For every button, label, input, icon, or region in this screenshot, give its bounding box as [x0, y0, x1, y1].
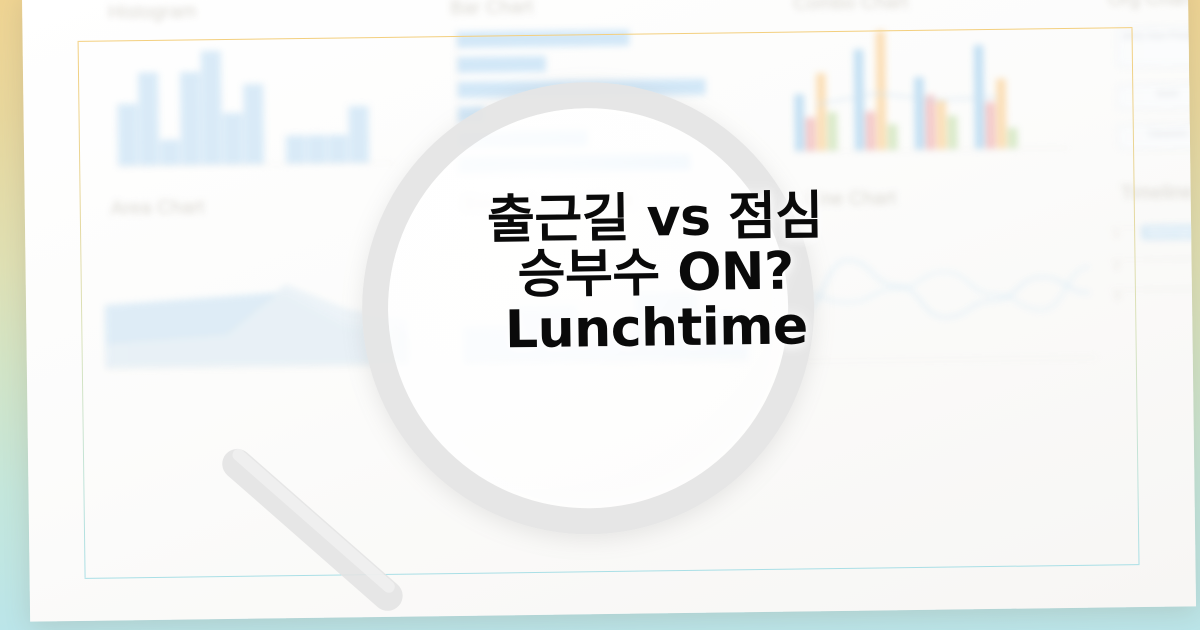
headline-line-3: Lunchtime	[426, 299, 887, 360]
panel-title-org-chart: Org Chart	[1108, 0, 1193, 11]
timeline-bar-label: Washington	[1147, 226, 1196, 238]
org-node-1-label: Kent	[1157, 89, 1178, 100]
headline-block: 출근길 vs 점심 승부수 ON? Lunchtime	[425, 188, 887, 359]
headline-line-1: 출근길 vs 점심	[425, 188, 886, 249]
white-card: Histogram Bar Chart Combo Ch	[22, 0, 1196, 622]
timeline-bar: Washington	[1141, 224, 1196, 240]
card-inner: Histogram Bar Chart Combo Ch	[22, 0, 1196, 622]
org-node-0-label: Jerry Vice President	[1122, 30, 1196, 42]
poster-canvas: Histogram Bar Chart Combo Ch	[0, 0, 1200, 630]
org-node-2-label: Cleaners	[1148, 128, 1188, 140]
headline-line-2: 승부수 ON?	[425, 243, 886, 304]
